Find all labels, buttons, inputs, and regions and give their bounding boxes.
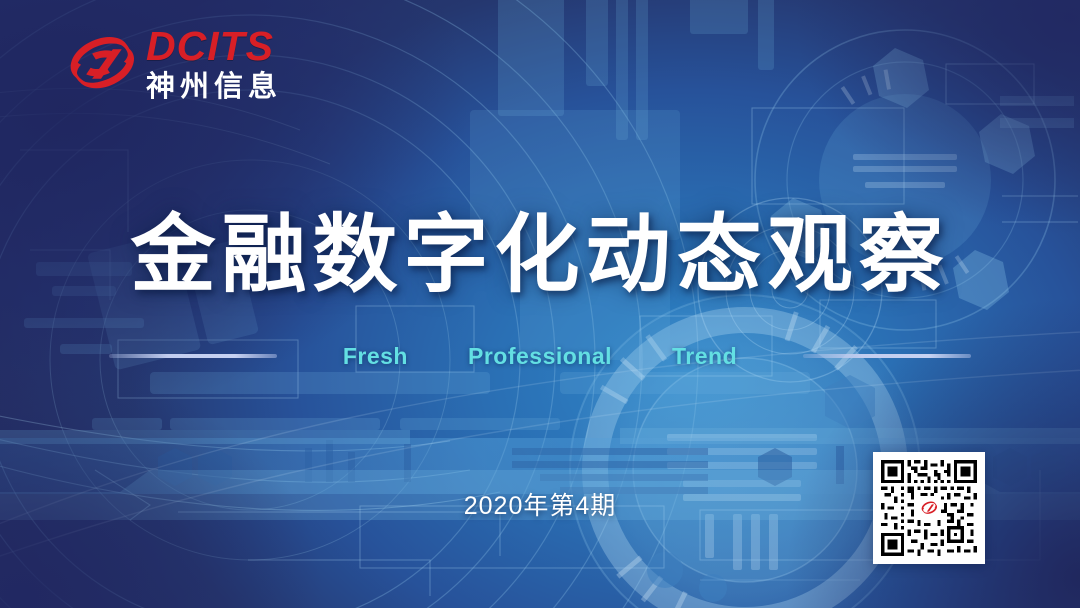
tagline-rule-right bbox=[803, 354, 971, 358]
dcits-swirl-logo-icon-small bbox=[920, 499, 938, 517]
tagline-word-professional: Professional bbox=[438, 343, 642, 370]
tagline-rule-left bbox=[109, 354, 277, 358]
poster-canvas: DCITS 神州信息 金融数字化动态观察 Fresh Professional … bbox=[0, 0, 1080, 608]
poster-title: 金融数字化动态观察 bbox=[0, 186, 1080, 309]
logo-english-name: DCITS bbox=[146, 26, 282, 67]
logo-chinese-name: 神州信息 bbox=[146, 73, 282, 102]
tagline-word-fresh: Fresh bbox=[313, 343, 438, 370]
qr-center-logo bbox=[917, 496, 941, 520]
brand-logo: DCITS 神州信息 bbox=[64, 26, 282, 102]
qr-code-canvas bbox=[881, 460, 977, 556]
tagline-word-trend: Trend bbox=[642, 343, 767, 370]
tagline-row: Fresh Professional Trend bbox=[0, 338, 1080, 374]
qr-code[interactable] bbox=[873, 452, 985, 564]
dcits-swirl-logo-icon bbox=[64, 26, 138, 102]
